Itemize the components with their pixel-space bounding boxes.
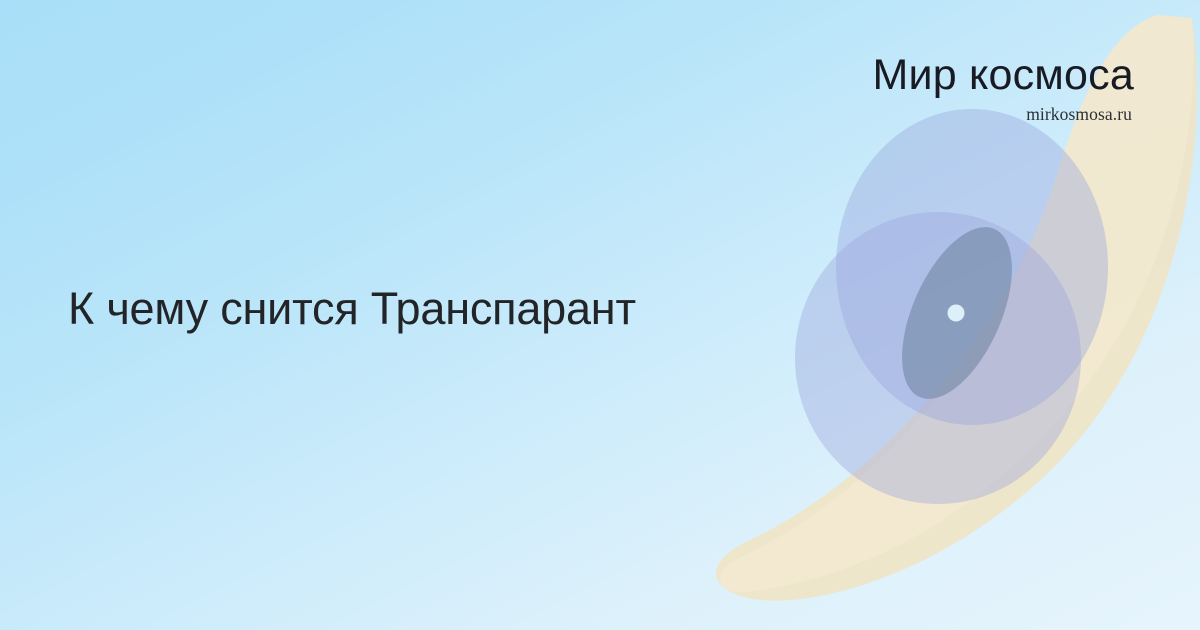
- white-center-dot: [948, 305, 965, 322]
- brand-url: mirkosmosa.ru: [872, 106, 1132, 124]
- social-share-card: К чему снится Транспарант Мир космоса mi…: [0, 0, 1200, 630]
- brand-name: Мир космоса: [872, 54, 1134, 97]
- page-title: К чему снится Транспарант: [68, 282, 636, 335]
- brand-block: Мир космоса mirkosmosa.ru: [872, 54, 1134, 124]
- slate-core-ellipse: [879, 211, 1034, 415]
- upper-periwinkle-orb: [836, 109, 1108, 425]
- lower-periwinkle-orb: [795, 212, 1081, 504]
